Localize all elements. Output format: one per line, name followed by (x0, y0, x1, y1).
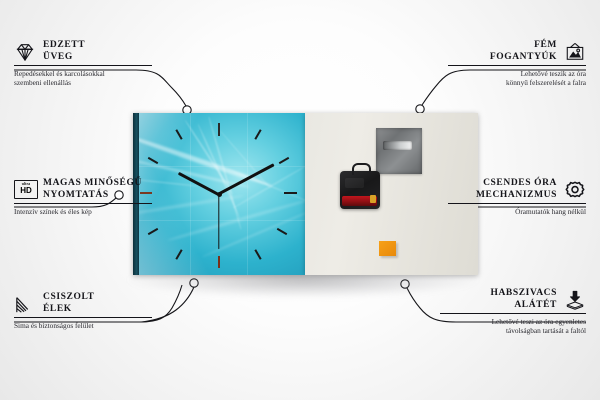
callout-description: Repedésekkel és karcolásokkal szembeni e… (14, 69, 152, 88)
callout-rule (440, 313, 586, 314)
second-hand (218, 194, 219, 249)
polished-edges-icon (14, 294, 36, 314)
picture-frame-hook-icon (564, 42, 586, 62)
callout-description: Óramutatók hang nélkül (448, 207, 586, 216)
product-shadow (128, 272, 478, 298)
ultra-hd-icon: ultra HD (14, 180, 36, 200)
callout-title: FÉM FOGANTYÚK (490, 40, 557, 63)
callout-fem-fogantyuk[interactable]: FÉM FOGANTYÚK Lehetővé teszik az óra kön… (448, 40, 586, 88)
callout-edzett-uveg[interactable]: EDZETT ÜVEG Repedésekkel és karcolásokka… (14, 40, 152, 88)
callout-description: Intenzív színek és éles kép (14, 207, 152, 216)
callout-rule (448, 203, 586, 204)
callout-habszivacs-alatet[interactable]: HABSZIVACS ALÁTÉT Lehetővé teszi az óra … (440, 288, 586, 336)
foam-pad-icon (564, 290, 586, 310)
callout-title: CSISZOLT ÉLEK (43, 292, 94, 315)
callout-csiszolt-elek[interactable]: CSISZOLT ÉLEK Sima és biztonságos felüle… (14, 292, 152, 330)
callout-rule (14, 317, 152, 318)
callout-header: HABSZIVACS ALÁTÉT (440, 288, 586, 311)
battery (342, 196, 377, 206)
center-pin (217, 192, 222, 197)
callout-rule (448, 65, 586, 66)
callout-header: CSISZOLT ÉLEK (14, 292, 152, 315)
callout-description: Lehetővé teszi az óra egyenletes távolsá… (440, 317, 586, 336)
callout-title: CSENDES ÓRA MECHANIZMUS (476, 178, 557, 201)
callout-header: ultra HD MAGAS MINŐSÉGŰ NYOMTATÁS (14, 178, 152, 201)
infographic-canvas: EDZETT ÜVEG Repedésekkel és karcolásokka… (0, 0, 600, 400)
callout-rule (14, 203, 152, 204)
callout-header: CSENDES ÓRA MECHANIZMUS (448, 178, 586, 201)
gear-icon (564, 180, 586, 200)
callout-description: Sima és biztonságos felület (14, 321, 152, 330)
callout-header: FÉM FOGANTYÚK (448, 40, 586, 63)
callout-rule (14, 65, 152, 66)
hour-hand (178, 171, 220, 195)
metal-hanger-plate (376, 128, 422, 174)
diamond-icon (14, 42, 36, 62)
callout-header: EDZETT ÜVEG (14, 40, 152, 63)
callout-title: EDZETT ÜVEG (43, 40, 85, 63)
clock-dial (133, 113, 305, 275)
quartz-mechanism-box (340, 171, 380, 209)
callout-title: HABSZIVACS ALÁTÉT (490, 288, 557, 311)
ultra-hd-large-label: HD (20, 187, 32, 195)
minute-hand (218, 164, 274, 196)
callout-csendes-ora-mechanizmus[interactable]: CSENDES ÓRA MECHANIZMUS Óramutatók hang … (448, 178, 586, 216)
foam-pad (379, 241, 396, 256)
printed-glass-clock-face (133, 113, 305, 275)
callout-title: MAGAS MINŐSÉGŰ NYOMTATÁS (43, 178, 142, 201)
callout-description: Lehetővé teszik az óra könnyű felszerelé… (448, 69, 586, 88)
callout-magas-minosegu-nyomtatas[interactable]: ultra HD MAGAS MINŐSÉGŰ NYOMTATÁS Intenz… (14, 178, 152, 216)
mechanism-slot (345, 178, 363, 188)
